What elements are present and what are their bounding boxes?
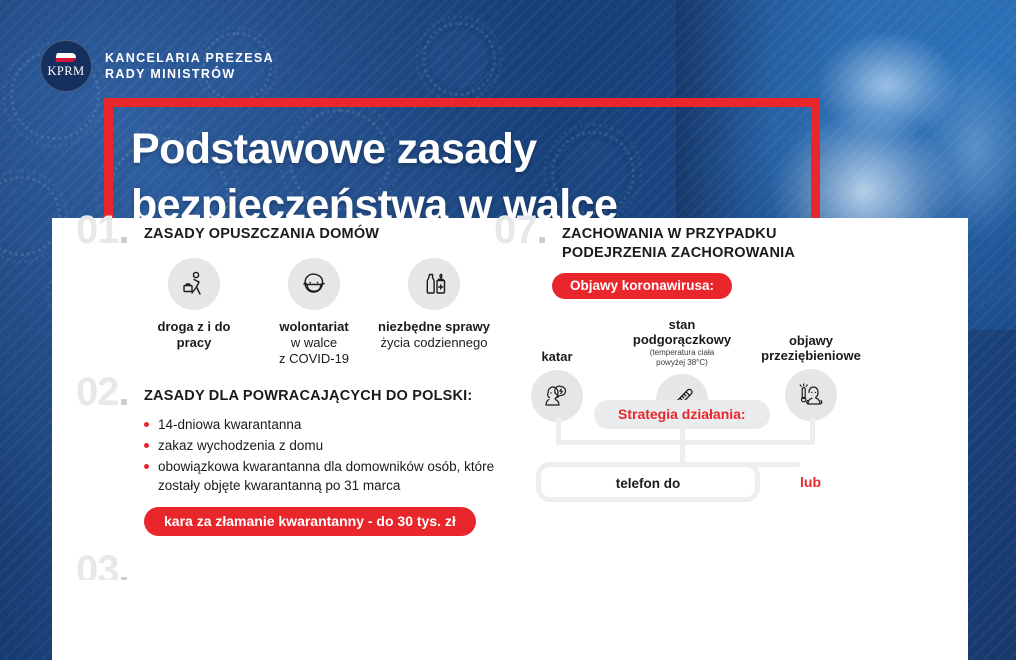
- org-name-line2: RADY MINISTRÓW: [105, 66, 274, 82]
- symptoms-badge: Objawy koronawirusa:: [552, 273, 732, 299]
- masked-face-icon: [288, 258, 340, 310]
- section-07: 07. ZACHOWANIA W PRZYPADKU PODEJRZENIA Z…: [494, 218, 954, 439]
- symptom-sublabel: (temperatura ciała powyżej 38°C): [607, 348, 757, 368]
- list-item: wolontariat w walce z COVID-19: [254, 258, 374, 367]
- section-01: 01. ZASADY OPUSZCZANIA DOMÓW dr: [76, 218, 506, 368]
- list-item-label: wolontariat w walce z COVID-19: [254, 319, 374, 367]
- section-07-title: ZACHOWANIA W PRZYPADKU PODEJRZENIA ZACHO…: [562, 218, 954, 263]
- flow-box-phone: telefon do: [536, 462, 760, 502]
- section-02: 02. ZASADY DLA POWRACAJĄCYCH DO POLSKI: …: [76, 380, 506, 536]
- connector-line: [556, 440, 815, 445]
- section-01-items: droga z i do pracy: [134, 258, 506, 367]
- right-column: 07. ZACHOWANIA W PRZYPADKU PODEJRZENIA Z…: [494, 218, 954, 439]
- list-item: zakaz wychodzenia z domu: [144, 436, 506, 455]
- kprm-mark-text: KPRM: [47, 64, 84, 79]
- section-01-number: 01.: [76, 210, 129, 250]
- list-item-label: droga z i do pracy: [134, 319, 254, 351]
- list-item: 14-dniowa kwarantanna: [144, 415, 506, 434]
- polish-flag-icon: [55, 53, 76, 62]
- worker-commute-icon: [168, 258, 220, 310]
- page-title-line1: Podstawowe zasady: [113, 107, 811, 177]
- section-03-number: 03.: [76, 550, 129, 580]
- symptom-label: objawy przeziębieniowe: [736, 333, 886, 363]
- connector-line: [680, 430, 685, 466]
- symptom-label: stan podgorączkowy: [607, 317, 757, 347]
- kprm-logo: KPRM KANCELARIA PREZESA RADY MINISTRÓW: [40, 40, 274, 92]
- list-item-label: niezbędne sprawy życia codziennego: [374, 319, 494, 351]
- org-name: KANCELARIA PREZESA RADY MINISTRÓW: [105, 50, 274, 82]
- section-02-bullets: 14-dniowa kwarantanna zakaz wychodzenia …: [144, 415, 506, 495]
- section-07-number: 07.: [494, 210, 547, 250]
- left-column: 01. ZASADY OPUSZCZANIA DOMÓW dr: [76, 218, 506, 580]
- section-01-title: ZASADY OPUSZCZANIA DOMÓW: [144, 218, 506, 244]
- list-item: droga z i do pracy: [134, 258, 254, 351]
- kprm-badge-icon: KPRM: [40, 40, 92, 92]
- strategy-badge: Strategia działania:: [594, 400, 770, 429]
- sneezing-person-icon: [531, 370, 583, 422]
- list-item: niezbędne sprawy życia codziennego: [374, 258, 494, 351]
- section-02-title: ZASADY DLA POWRACAJĄCYCH DO POLSKI:: [144, 380, 506, 406]
- section-02-number: 02.: [76, 372, 129, 412]
- cold-symptoms-person-icon: [785, 369, 837, 421]
- groceries-bottle-jar-icon: [408, 258, 460, 310]
- flow-or-label: lub: [800, 474, 821, 490]
- section-03: 03.: [76, 550, 506, 580]
- quarantine-penalty-badge: kara za złamanie kwarantanny - do 30 tys…: [144, 507, 476, 536]
- list-item: obowiązkowa kwarantanna dla domowników o…: [144, 457, 506, 495]
- org-name-line1: KANCELARIA PREZESA: [105, 50, 274, 66]
- content-panel: 01. ZASADY OPUSZCZANIA DOMÓW dr: [52, 218, 968, 660]
